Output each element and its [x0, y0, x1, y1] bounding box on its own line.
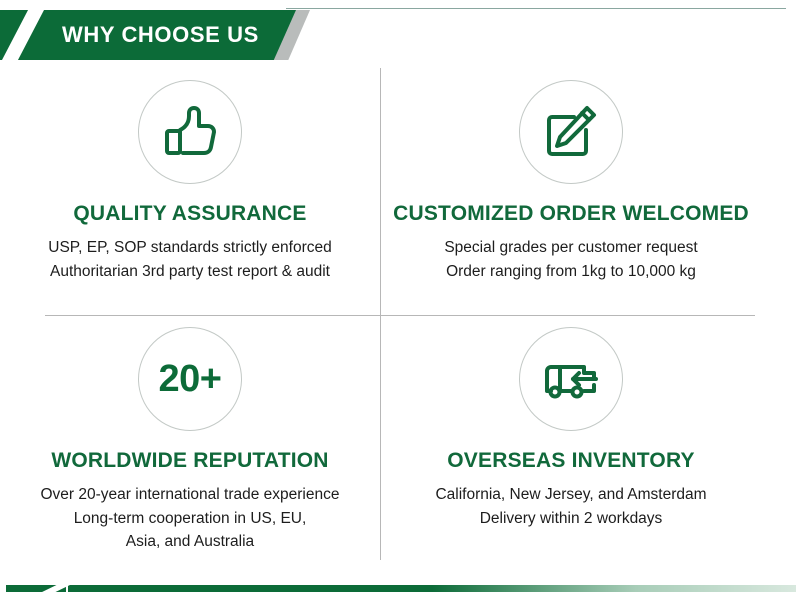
why-choose-us-page: WHY CHOOSE US QUALITY ASSURANCE USP, EP,… [0, 0, 796, 600]
feature-description: USP, EP, SOP standards strictly enforced… [0, 236, 380, 283]
feature-card-worldwide-reputation: 20+ WORLDWIDE REPUTATION Over 20-year in… [0, 317, 380, 554]
feature-title: CUSTOMIZED ORDER WELCOMED [381, 202, 761, 225]
delivery-truck-icon [519, 327, 623, 431]
feature-grid: QUALITY ASSURANCE USP, EP, SOP standards… [0, 68, 796, 568]
feature-title: QUALITY ASSURANCE [0, 202, 380, 225]
feature-description: California, New Jersey, and Amsterdam De… [381, 483, 761, 530]
years-badge-text: 20+ [159, 360, 222, 398]
feature-title: WORLDWIDE REPUTATION [0, 449, 380, 472]
feature-description-line: Long-term cooperation in US, EU, [0, 507, 380, 531]
footer-accent-bar [0, 585, 796, 592]
thumbs-up-icon [138, 80, 242, 184]
feature-title: OVERSEAS INVENTORY [381, 449, 761, 472]
feature-description-line: California, New Jersey, and Amsterdam [381, 483, 761, 507]
feature-description-line: Special grades per customer request [381, 236, 761, 260]
feature-card-quality-assurance: QUALITY ASSURANCE USP, EP, SOP standards… [0, 70, 380, 283]
feature-description-line: Asia, and Australia [0, 530, 380, 554]
feature-description-line: USP, EP, SOP standards strictly enforced [0, 236, 380, 260]
feature-description: Special grades per customer request Orde… [381, 236, 761, 283]
grid-horizontal-divider [45, 315, 755, 316]
feature-card-customized-order: CUSTOMIZED ORDER WELCOMED Special grades… [381, 70, 761, 283]
feature-description: Over 20-year international trade experie… [0, 483, 380, 554]
page-title: WHY CHOOSE US [62, 10, 259, 60]
top-divider-rule [286, 8, 786, 9]
feature-description-line: Over 20-year international trade experie… [0, 483, 380, 507]
feature-card-overseas-inventory: OVERSEAS INVENTORY California, New Jerse… [381, 317, 761, 530]
twenty-plus-badge: 20+ [138, 327, 242, 431]
section-header-banner: WHY CHOOSE US [0, 10, 330, 60]
edit-pencil-square-icon [519, 80, 623, 184]
feature-description-line: Order ranging from 1kg to 10,000 kg [381, 260, 761, 284]
feature-description-line: Delivery within 2 workdays [381, 507, 761, 531]
footer-bar-gradient-segment [68, 585, 796, 592]
feature-description-line: Authoritarian 3rd party test report & au… [0, 260, 380, 284]
